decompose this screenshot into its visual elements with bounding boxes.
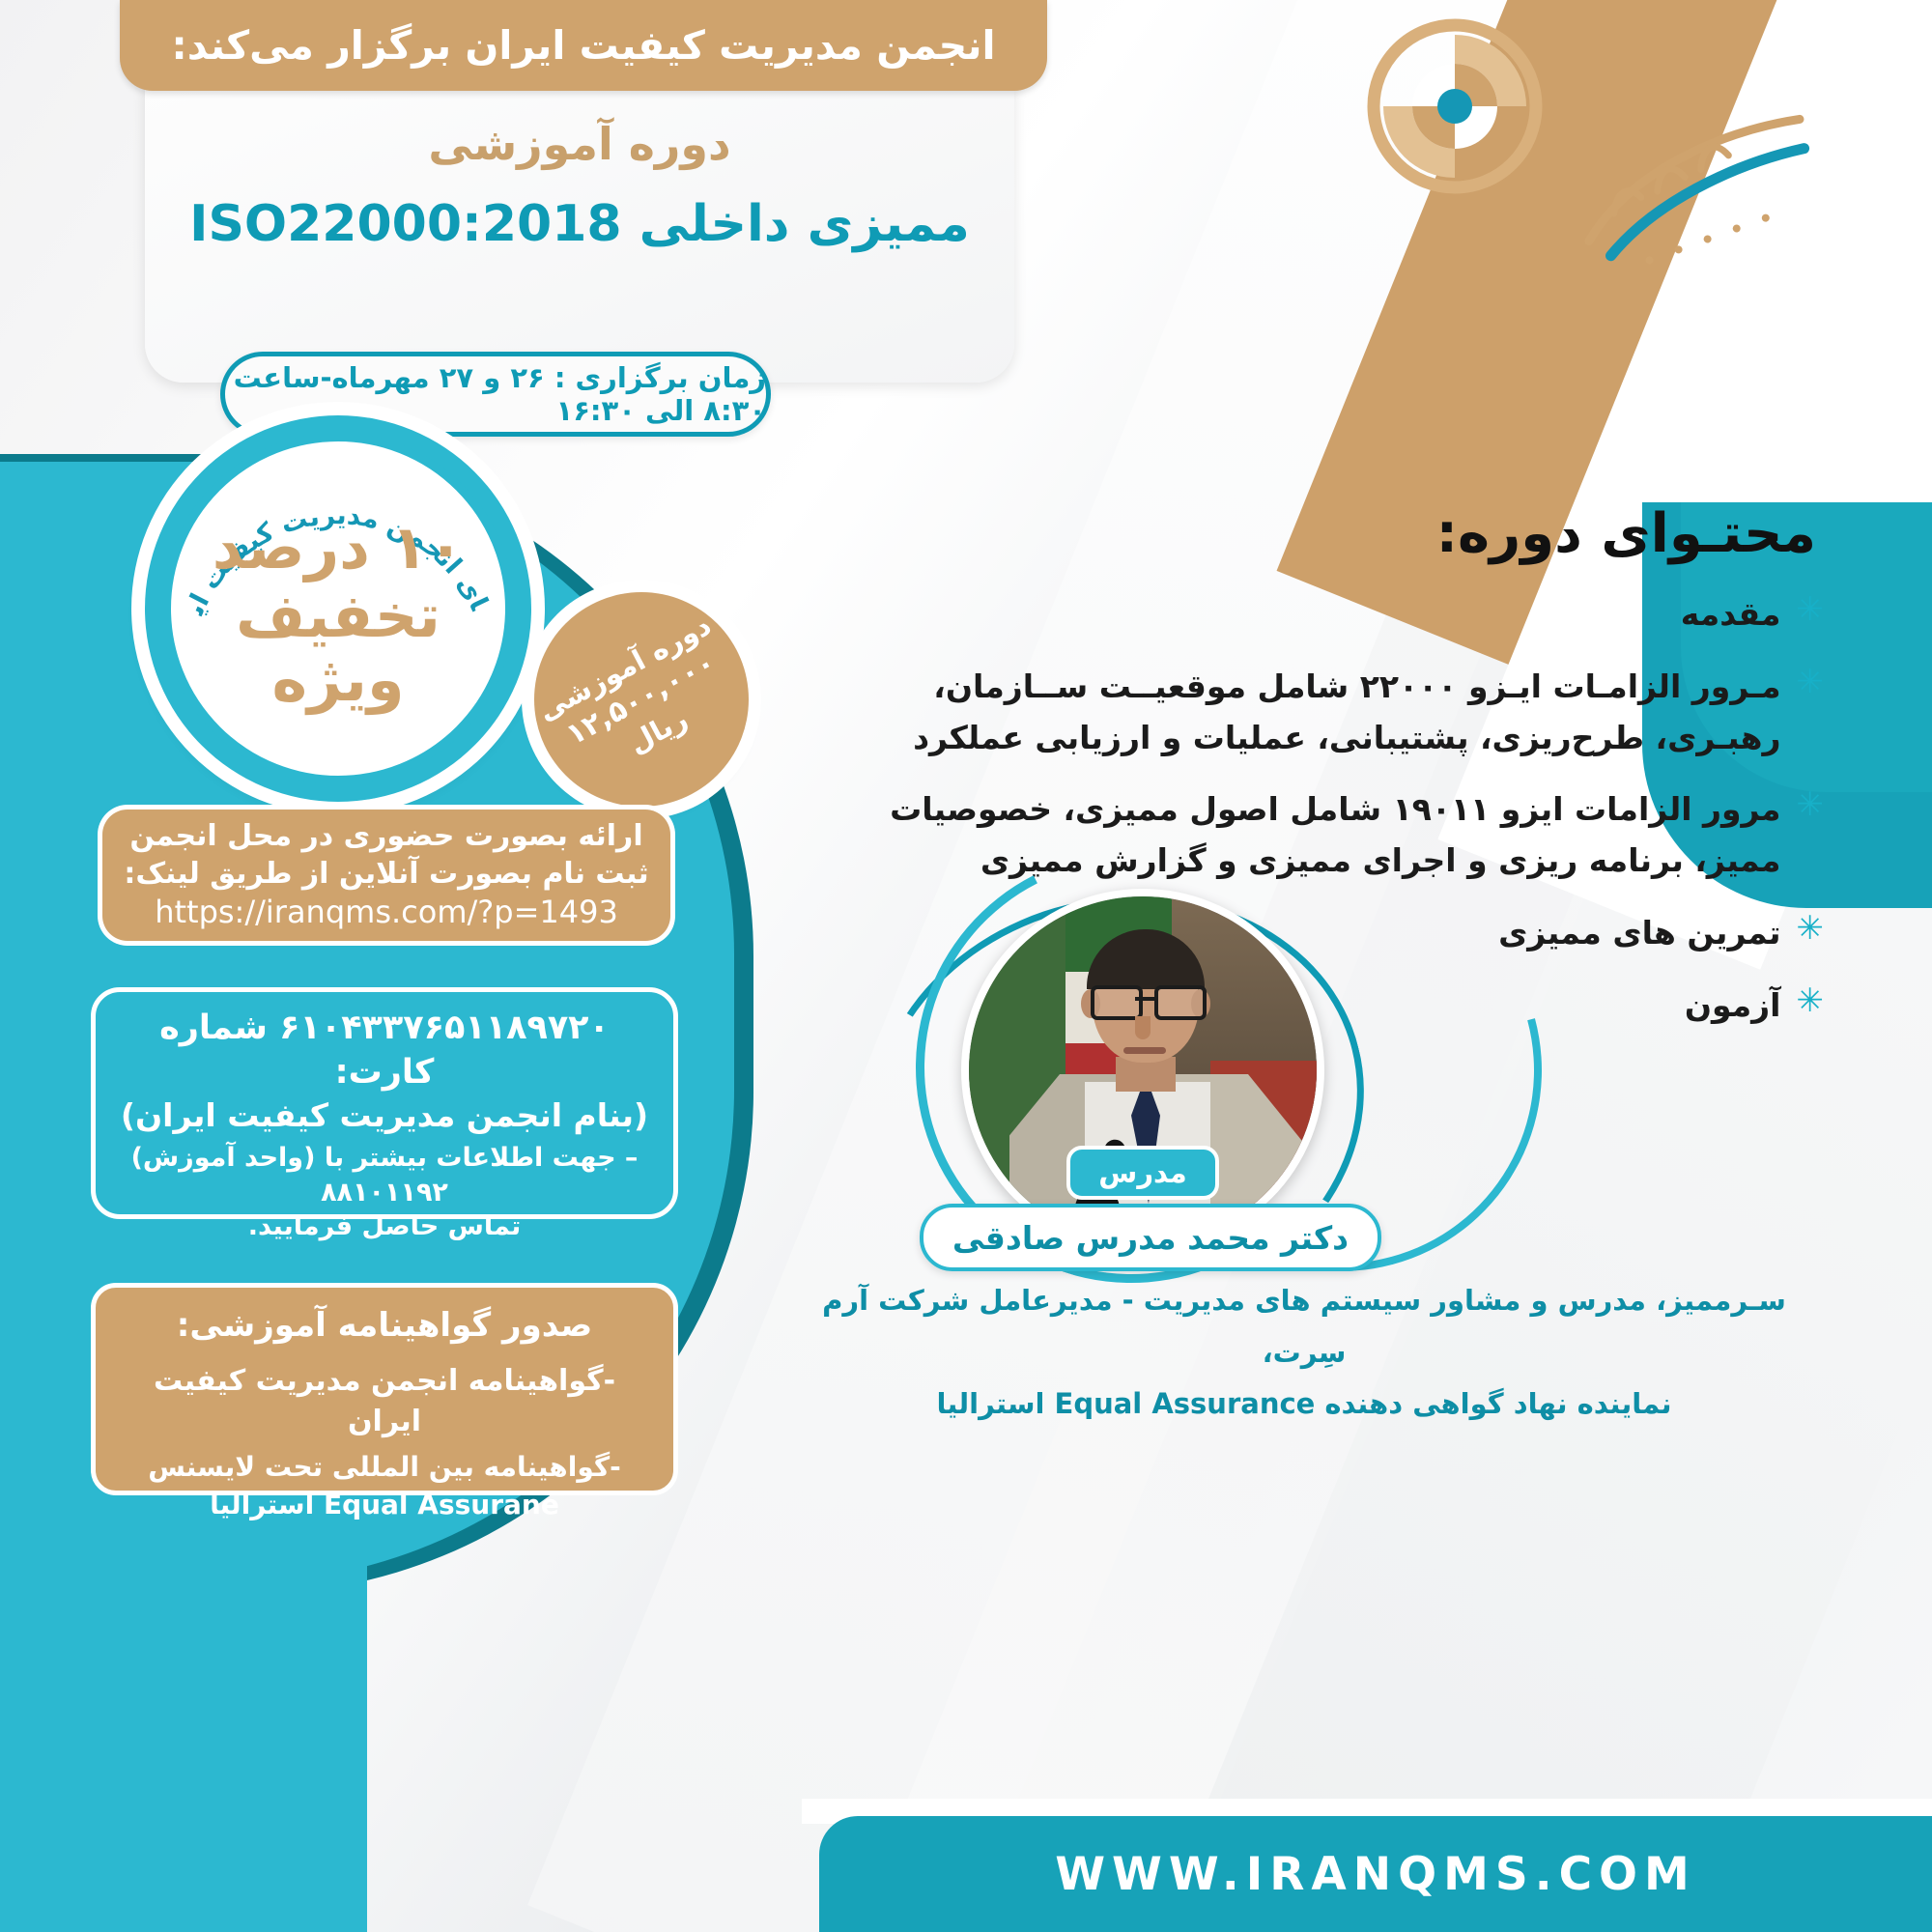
contact-info-line-2: تماس حاصل فرمایید. [113,1209,656,1244]
asterisk-bullet-icon: ✳ [1797,589,1825,631]
content-item: ✳ مـرور الزامـات ایـزو ۲۲۰۰۰ شامل موقعیـ… [858,662,1824,764]
content-item-label: مقدمه [1681,589,1781,640]
card-number-value: ۶۱۰۴۳۳۷۶۵۱۱۸۹۷۲۰ [279,1009,610,1047]
certificate-item-1: -گواهینامه انجمن مدیریت کیفیت ایران [115,1361,654,1442]
instructor-bio-line-2: نماینده نهاد گواهی دهنده Equal Assurance… [792,1378,1816,1431]
course-name-label: ممیزی داخلی ISO22000:2018 [189,195,970,253]
website-url[interactable]: WWW.IRANQMS.COM [1055,1848,1696,1901]
account-holder: (بنام انجمن مدیریت کیفیت ایران) [113,1094,656,1137]
asterisk-bullet-icon: ✳ [1797,784,1825,826]
payment-box: ۶۱۰۴۳۳۷۶۵۱۱۸۹۷۲۰ شماره کارت: (بنام انجمن… [91,987,678,1219]
price-badge: دوره آموزشی ۱۲,۵۰۰,۰۰۰ ریال [534,592,749,807]
content-item-label: مـرور الزامـات ایـزو ۲۲۰۰۰ شامل موقعیــت… [858,662,1781,764]
discount-badge-core: ۱۰ درصد تخفیف ویژه [172,502,504,724]
instructor-role-badge: مدرس [1066,1146,1219,1200]
instructor-bio: سـرممیز، مدرس و مشاور سیستم های مدیریت -… [792,1275,1816,1431]
registration-line-1: ارائه بصورت حضوری در محل انجمن [129,817,642,855]
registration-box[interactable]: ارائه بصورت حضوری در محل انجمن ثبت نام ب… [102,810,670,941]
certificate-box: صدور گواهینامه آموزشی: -گواهینامه انجمن … [91,1283,678,1495]
discount-special-label: تخفیف ویژه [172,584,504,710]
course-title-card: دوره آموزشی ممیزی داخلی ISO22000:2018 [145,83,1014,383]
discount-percent-label: ۱۰ درصد [213,516,465,579]
iranqms-logo-icon [1350,17,1559,226]
instructor-bio-line-1: سـرممیز، مدرس و مشاور سیستم های مدیریت -… [792,1275,1816,1378]
certificate-item-2: -گواهینامه بین المللی تحت لایسنس Equal A… [115,1448,654,1523]
footer-bar: WWW.IRANQMS.COM [819,1816,1932,1932]
asterisk-bullet-icon: ✳ [1797,908,1825,950]
logo-calligraphy [1557,93,1847,276]
organizer-text: انجمن مدیریت کیفیت ایران برگزار می‌کند: [171,22,995,69]
card-number-row: ۶۱۰۴۳۳۷۶۵۱۱۸۹۷۲۰ شماره کارت: [113,1006,656,1094]
certificate-title: صدور گواهینامه آموزشی: [115,1303,654,1350]
poster-canvas: دوره آموزشی ممیزی داخلی ISO22000:2018 ان… [0,0,1932,1932]
content-item-label: آزمون [1685,980,1781,1032]
content-item-label: تمرین های ممیزی [1498,908,1780,959]
course-content-title: محتـوای دوره: [1436,502,1816,565]
teal-blob-tail [0,1507,367,1932]
registration-link[interactable]: https://iranqms.com/?p=1493 [155,893,618,933]
registration-line-2: ثبت نام بصورت آنلاین از طریق لینک: [124,855,648,893]
course-type-label: دوره آموزشی [428,118,730,170]
contact-info-line: – جهت اطلاعات بیشتر با (واحد آموزش) ۸۸۱۰… [113,1141,656,1209]
asterisk-bullet-icon: ✳ [1797,980,1825,1022]
organizer-banner: انجمن مدیریت کیفیت ایران برگزار می‌کند: [120,0,1047,91]
instructor-name: دکتر محمد مدرس صادقی [920,1204,1381,1271]
content-item: ✳ مقدمه [858,589,1824,640]
asterisk-bullet-icon: ✳ [1797,662,1825,703]
